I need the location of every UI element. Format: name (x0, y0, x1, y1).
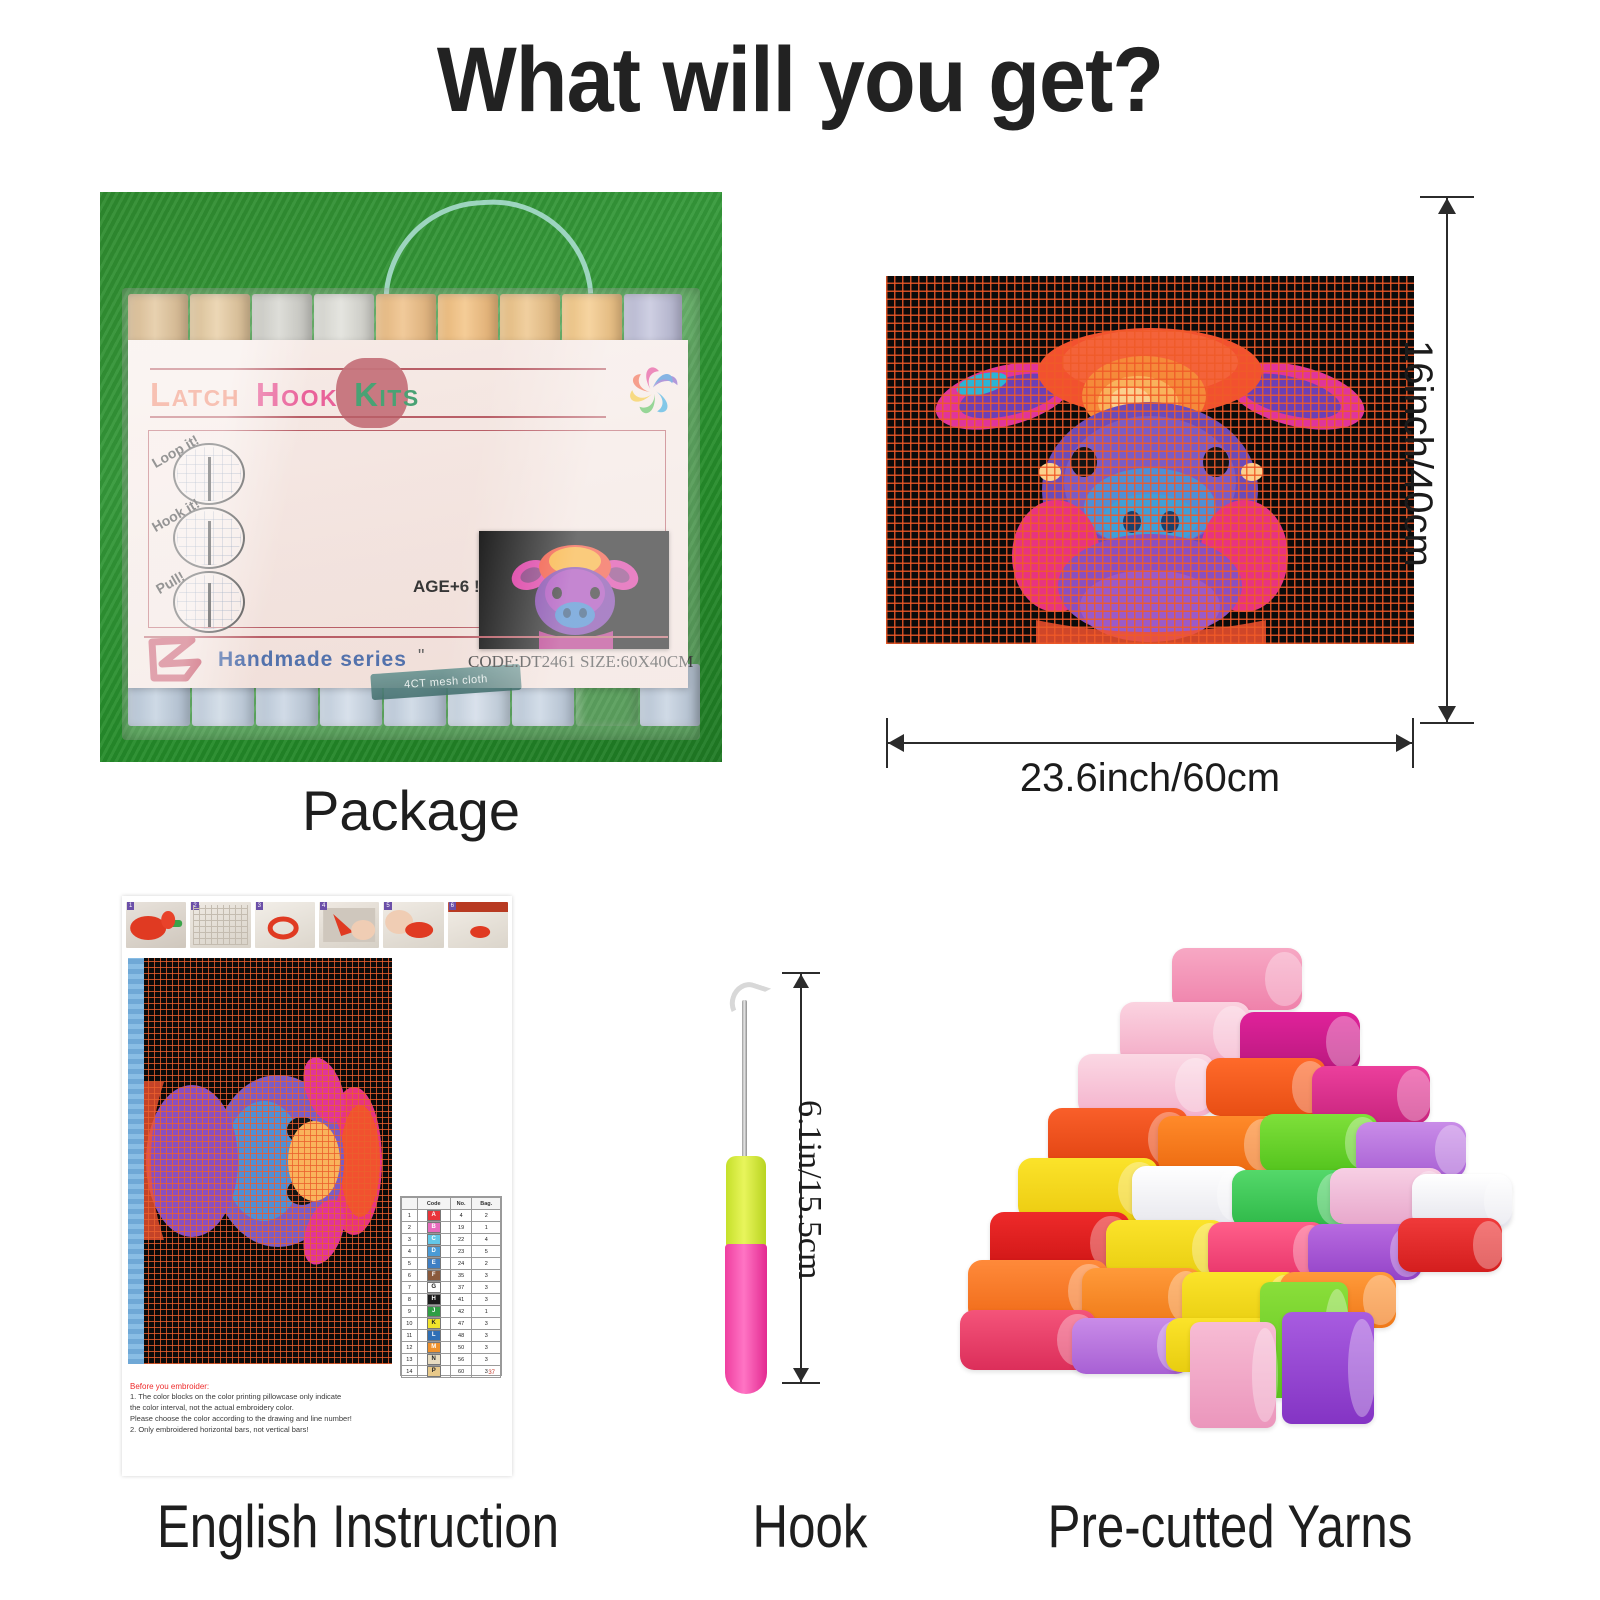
legend-color-swatch: K (427, 1318, 441, 1329)
notes-line: Please choose the color according to the… (130, 1413, 430, 1424)
hook-length-label: 6.1in/15.5cm (790, 1100, 828, 1279)
yarn-bundle-standing (1282, 1312, 1374, 1424)
legend-bag: 2 (472, 1258, 501, 1270)
legend-index: 7 (402, 1282, 418, 1294)
tutorial-photo-number: 3 (256, 902, 263, 910)
legend-row: 6F353 (402, 1270, 501, 1282)
package-photo: Latch Hook Kits Loop it! (100, 192, 722, 762)
dim-arrow-right (1396, 734, 1412, 752)
legend-index: 10 (402, 1318, 418, 1330)
legend-count: 47 (450, 1318, 472, 1330)
legend-color-swatch: M (427, 1342, 441, 1353)
caption-pre-cutted-yarns: Pre-cutted Yarns (959, 1492, 1500, 1561)
legend-row: 1A42 (402, 1210, 501, 1222)
legend-code-cell: L (417, 1330, 450, 1342)
dim-tick-bottom (1420, 722, 1474, 724)
tutorial-art (383, 902, 443, 948)
legend-bag: 5 (472, 1246, 501, 1258)
legend-col-code: Code (417, 1198, 450, 1210)
legend-index: 1 (402, 1210, 418, 1222)
tutorial-photo: 6 (448, 902, 508, 948)
legend-row: 2B191 (402, 1222, 501, 1234)
legend-bag: 1 (472, 1222, 501, 1234)
tutorial-photo-number: 5 (384, 902, 391, 910)
legend-count: 50 (450, 1342, 472, 1354)
legend-header-row: Code No. Bag. (402, 1198, 501, 1210)
legend-index: 8 (402, 1294, 418, 1306)
legend-row: 14P603 (402, 1366, 501, 1378)
dim-line-horizontal (886, 742, 1414, 744)
legend-count: 42 (450, 1306, 472, 1318)
caption-hook: Hook (671, 1492, 950, 1561)
page-title: What will you get? (64, 28, 1536, 133)
legend-index: 9 (402, 1306, 418, 1318)
tutorial-photo: 4 (319, 902, 379, 948)
mesh-grid-overlay (886, 276, 1414, 644)
legend-count: 22 (450, 1234, 472, 1246)
legend-count: 4 (450, 1210, 472, 1222)
legend-body: 1A422B1913C2244D2355E2426F3537G3738H4139… (402, 1210, 501, 1378)
legend-row: 4D235 (402, 1246, 501, 1258)
legend-row: 3C224 (402, 1234, 501, 1246)
dim-arrow-up (1438, 198, 1456, 214)
legend-color-swatch: J (427, 1306, 441, 1317)
before-you-embroider-notes: Before you embroider: 1. The color block… (130, 1382, 430, 1435)
legend-code-cell: P (417, 1366, 450, 1378)
legend-code-cell: F (417, 1270, 450, 1282)
legend-count: 60 (450, 1366, 472, 1378)
legend-code-cell: E (417, 1258, 450, 1270)
hook-dim-arrow-down (793, 1368, 809, 1382)
legend-count: 19 (450, 1222, 472, 1234)
legend-table: Code No. Bag. 1A422B1913C2244D2355E2426F… (401, 1197, 501, 1378)
legend-count: 37 (450, 1282, 472, 1294)
legend-color-swatch: L (427, 1330, 441, 1341)
tutorial-photo-number: 1 (127, 902, 134, 910)
notes-line: 2. Only embroidered horizontal bars, not… (130, 1424, 430, 1435)
legend-bag: 3 (472, 1342, 501, 1354)
hook-handle-upper (726, 1156, 766, 1248)
legend-code-cell: A (417, 1210, 450, 1222)
legend-code-cell: H (417, 1294, 450, 1306)
hook-needle (742, 1000, 747, 1160)
legend-index: 2 (402, 1222, 418, 1234)
hook-dim-arrow-up (793, 974, 809, 988)
legend-code-cell: C (417, 1234, 450, 1246)
legend-code-cell: N (417, 1354, 450, 1366)
legend-row: 5E242 (402, 1258, 501, 1270)
notes-heading: Before you embroider: (130, 1382, 430, 1391)
legend-color-swatch: A (427, 1210, 441, 1221)
dim-arrow-down (1438, 706, 1456, 722)
dim-line-vertical (1446, 196, 1448, 724)
legend-bag: 2 (472, 1210, 501, 1222)
legend-col-no: No. (450, 1198, 472, 1210)
tutorial-photo-number: 4 (320, 902, 327, 910)
mesh-texture (193, 905, 247, 945)
legend-count: 35 (450, 1270, 472, 1282)
legend-color-swatch: E (427, 1258, 441, 1269)
chart-grid-overlay (130, 958, 392, 1364)
legend-code-cell: D (417, 1246, 450, 1258)
legend-code-cell: M (417, 1342, 450, 1354)
legend-code-cell: J (417, 1306, 450, 1318)
printed-mesh-canvas (886, 276, 1414, 644)
hook-handle-lower (725, 1244, 767, 1394)
legend-color-swatch: N (427, 1354, 441, 1365)
legend-row: 9J421 (402, 1306, 501, 1318)
legend-index: 3 (402, 1234, 418, 1246)
legend-count: 41 (450, 1294, 472, 1306)
hook-barb-icon (725, 977, 772, 1026)
legend-col-bag: Bag. (472, 1198, 501, 1210)
tutorial-photo-strip: 1 2 3 4 5 6 (126, 902, 508, 948)
legend-row: 13N563 (402, 1354, 501, 1366)
canvas-width-label: 23.6inch/60cm (886, 756, 1414, 801)
legend-row: 10K473 (402, 1318, 501, 1330)
yarn-bundle (1172, 948, 1302, 1010)
caption-english-instruction: English Instruction (137, 1492, 580, 1561)
dim-arrow-left (888, 734, 904, 752)
tutorial-photo: 2 (190, 902, 250, 948)
tutorial-photo: 1 (126, 902, 186, 948)
tutorial-art (126, 902, 186, 948)
legend-bag: 3 (472, 1294, 501, 1306)
legend-row: 12M503 (402, 1342, 501, 1354)
yarn-bundle (1398, 1218, 1502, 1272)
legend-color-swatch: F (427, 1270, 441, 1281)
legend-index: 12 (402, 1342, 418, 1354)
legend-bag: 3 (472, 1270, 501, 1282)
caption-package: Package (100, 778, 722, 843)
legend-count: 56 (450, 1354, 472, 1366)
legend-color-swatch: D (427, 1246, 441, 1257)
legend-bag: 4 (472, 1234, 501, 1246)
yarn-bundle-standing (1190, 1322, 1276, 1428)
instruction-sheet: 1 2 3 4 5 6 (122, 896, 512, 1476)
legend-row: 11L483 (402, 1330, 501, 1342)
legend-bag: 3 (472, 1330, 501, 1342)
legend-code-cell: K (417, 1318, 450, 1330)
tutorial-art (319, 902, 379, 948)
legend-count: 24 (450, 1258, 472, 1270)
legend-count: 48 (450, 1330, 472, 1342)
package-label: Latch Hook Kits Loop it! (128, 340, 688, 688)
hook-dim-tick-bottom (782, 1382, 820, 1384)
legend-code-cell: B (417, 1222, 450, 1234)
legend-bag: 3 (472, 1366, 501, 1378)
yarn-bundle (1078, 1054, 1214, 1116)
color-legend-table: Code No. Bag. 1A422B1913C2244D2355E2426F… (400, 1196, 502, 1376)
legend-color-swatch: H (427, 1294, 441, 1305)
legend-bag: 3 (472, 1318, 501, 1330)
tutorial-art (255, 902, 315, 948)
legend-index: 14 (402, 1366, 418, 1378)
legend-color-swatch: B (427, 1222, 441, 1233)
legend-bag: 1 (472, 1306, 501, 1318)
tutorial-art (448, 902, 508, 948)
notes-line: 1. The color blocks on the color printin… (130, 1391, 430, 1402)
legend-count: 23 (450, 1246, 472, 1258)
tutorial-photo-number: 6 (449, 902, 456, 910)
pre-cut-yarns-photo (960, 930, 1480, 1410)
legend-index: 13 (402, 1354, 418, 1366)
legend-row: 8H413 (402, 1294, 501, 1306)
tutorial-photo: 5 (383, 902, 443, 948)
legend-index: 6 (402, 1270, 418, 1282)
legend-index: 11 (402, 1330, 418, 1342)
yarn-bundle (1206, 1058, 1326, 1116)
legend-total: 37 (488, 1370, 495, 1376)
legend-index: 4 (402, 1246, 418, 1258)
label-plastic-sheen (128, 340, 688, 688)
legend-color-swatch: C (427, 1234, 441, 1245)
legend-index: 5 (402, 1258, 418, 1270)
legend-row: 7G373 (402, 1282, 501, 1294)
notes-line: the color interval, not the actual embro… (130, 1402, 430, 1413)
legend-code-cell: G (417, 1282, 450, 1294)
canvas-height-label: 16inch/40cm (1395, 340, 1440, 567)
legend-color-swatch: G (427, 1282, 441, 1293)
tutorial-photo: 3 (255, 902, 315, 948)
legend-bag: 3 (472, 1354, 501, 1366)
legend-bag: 3 (472, 1282, 501, 1294)
legend-col-index (402, 1198, 418, 1210)
legend-color-swatch: P (427, 1366, 441, 1377)
chart-row-rail (128, 958, 144, 1364)
